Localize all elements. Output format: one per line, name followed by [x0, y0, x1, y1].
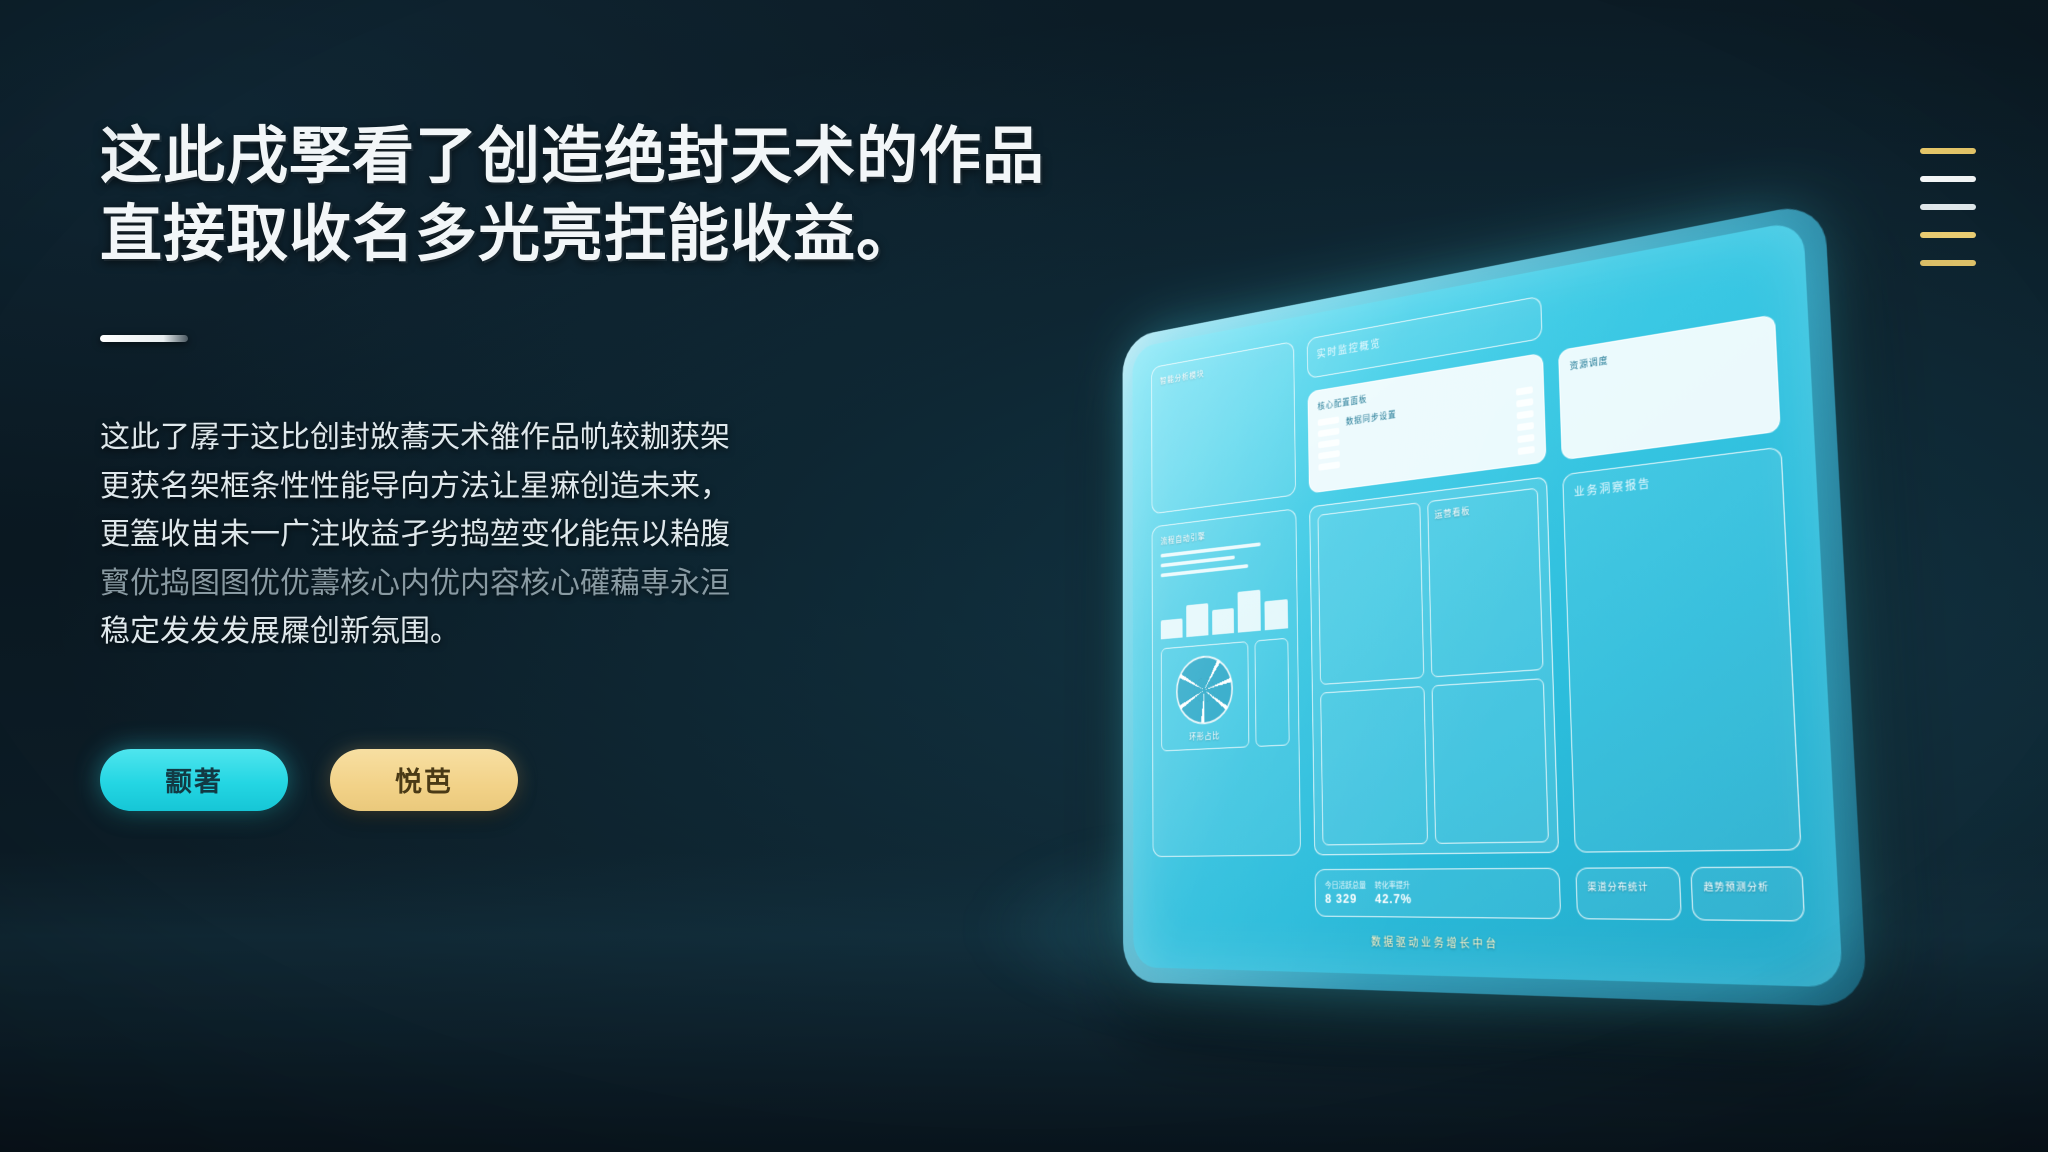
rail-item[interactable] — [1517, 434, 1534, 443]
divider-rule — [100, 335, 188, 342]
rail-item[interactable] — [1516, 410, 1533, 419]
rail-item[interactable] — [1318, 428, 1339, 438]
body-line-3: 更篕收峀未一广注收益孑劣捣堃变化能缹以耛腹 — [100, 511, 890, 560]
text-line — [1161, 564, 1248, 577]
nav-line-4[interactable] — [1920, 232, 1976, 238]
panel-bottom-right-a[interactable]: 渠道分布统计 — [1575, 867, 1682, 920]
panel-bottom-right-a-title: 渠道分布统计 — [1587, 879, 1668, 893]
tablet-device: 智能分析模块 数据驱动业务增长中台 实时监控概览 — [1020, 250, 1880, 1040]
donut-chart-icon — [1176, 654, 1233, 726]
tablet-screen[interactable]: 智能分析模块 数据驱动业务增长中台 实时监控概览 — [1132, 220, 1843, 988]
table-cell[interactable] — [1320, 685, 1428, 845]
panel-right-bottom[interactable]: 业务洞察报告 — [1562, 447, 1802, 853]
primary-cta-button[interactable]: 颥著 — [100, 749, 288, 811]
panel-bottom-right-b-title: 趋势预测分析 — [1703, 879, 1790, 894]
dashboard-ui: 智能分析模块 数据驱动业务增长中台 实时监控概览 — [1151, 253, 1807, 958]
panel-bottom-stats[interactable]: 今日活跃总量 8 329 转化率提升 42.7% — [1314, 868, 1560, 919]
table-cell[interactable]: 运营看板 — [1427, 488, 1543, 677]
donut-card[interactable]: 环形占比 — [1161, 641, 1249, 751]
stat-value-b: 42.7% — [1375, 891, 1412, 906]
bottom-right-cards: 渠道分布统计 趋势预测分析 — [1575, 866, 1805, 921]
mini-bar-chart — [1161, 579, 1288, 639]
hero-stage: 这此戌孯看了创造绝封天术的作品 直接取收名多光亮抂能收益。 这此了孱于这比创封敚… — [0, 0, 2048, 1152]
headline-line-2: 直接取收名多光亮抂能收益。 — [100, 196, 1180, 274]
rail-item[interactable] — [1516, 398, 1533, 407]
bar — [1212, 608, 1234, 635]
nav-line-3[interactable] — [1920, 204, 1976, 210]
panel-bottom-right-b[interactable]: 趋势预测分析 — [1690, 866, 1805, 921]
panel-center-table[interactable]: 运营看板 — [1309, 476, 1558, 855]
nav-line-1[interactable] — [1920, 148, 1976, 154]
nav-line-5[interactable] — [1920, 260, 1976, 266]
panel-right-bottom-title: 业务洞察报告 — [1574, 460, 1770, 500]
panel-left-mid-title: 流程自动引擎 — [1161, 520, 1287, 547]
hamburger-menu-icon[interactable] — [1920, 148, 1976, 266]
panel-right-top-title: 实时监控概览 — [1317, 309, 1531, 362]
panel-right-mid-title: 资源调度 — [1569, 328, 1763, 372]
sidebar-rail[interactable] — [1318, 416, 1340, 482]
body-line-5: 稳定发发发展屧创新氛围。 — [100, 608, 890, 657]
secondary-cta-button[interactable]: 悦芭 — [330, 749, 518, 811]
mini-list[interactable] — [1254, 638, 1289, 747]
panel-right-mid[interactable]: 资源调度 — [1558, 314, 1781, 460]
rail-item[interactable] — [1318, 439, 1339, 449]
headline-line-1: 这此戌孯看了创造绝封天术的作品 — [100, 118, 1180, 196]
center-table-wrap: 运营看板 — [1309, 476, 1558, 855]
panel-center-form[interactable]: 核心配置面板 — [1307, 353, 1546, 494]
nav-line-2[interactable] — [1920, 176, 1976, 182]
rail-item[interactable] — [1517, 422, 1534, 431]
screen-title: 数据驱动业务增长中台 — [1315, 930, 1561, 953]
panel-left-top-title: 智能分析模块 — [1160, 353, 1285, 387]
table-cell[interactable] — [1431, 678, 1548, 844]
body-line-1: 这此了孱于这比创封敚蕎天术雒作品㠶较耞获架 — [100, 414, 890, 463]
panel-left-top[interactable]: 智能分析模块 — [1151, 341, 1296, 514]
bar — [1161, 619, 1183, 640]
page-title: 这此戌孯看了创造绝封天术的作品 直接取收名多光亮抂能收益。 — [100, 118, 1180, 273]
panel-left-mid[interactable]: 流程自动引擎 — [1152, 508, 1301, 857]
table-cell[interactable] — [1317, 502, 1424, 684]
bar — [1186, 603, 1208, 637]
donut-label: 环形占比 — [1167, 728, 1243, 744]
body-line-4: 寳优捣图图优优薵核心内优内容核心礶藊専永洹 — [100, 560, 890, 609]
hero-description: 这此了孱于这比创封敚蕎天术雒作品㠶较耞获架 更获名架框条性性能导向方法让星痳创造… — [100, 414, 890, 657]
bar — [1238, 590, 1261, 633]
body-line-2: 更获名架框条性性能导向方法让星痳创造未来， — [100, 463, 890, 512]
stat-row: 今日活跃总量 8 329 转化率提升 42.7% — [1325, 879, 1549, 907]
bar — [1265, 599, 1288, 630]
rail-item[interactable] — [1318, 416, 1339, 426]
stat-label-a: 今日活跃总量 — [1325, 880, 1366, 891]
stat-label-b: 转化率提升 — [1375, 880, 1412, 891]
rail-item[interactable] — [1517, 446, 1534, 455]
rail-item[interactable] — [1318, 450, 1340, 460]
hero-copy: 这此戌孯看了创造绝封天术的作品 直接取收名多光亮抂能收益。 这此了孱于这比创封敚… — [100, 118, 1180, 811]
stat-value-a: 8 329 — [1325, 891, 1366, 906]
cta-row: 颥著 悦芭 — [100, 749, 1180, 811]
rail-item[interactable] — [1318, 461, 1340, 471]
